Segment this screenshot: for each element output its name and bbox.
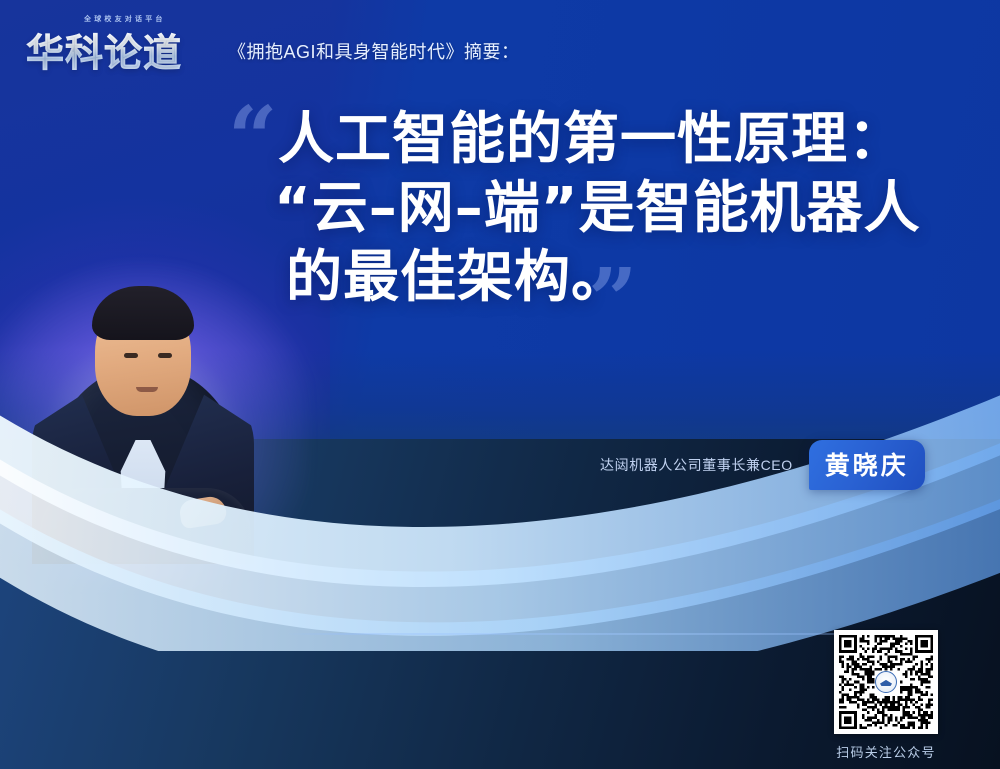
qr-code-image[interactable]: [834, 630, 938, 734]
brand-logo: 全球校友对话平台 华科论道: [26, 8, 222, 70]
portrait-mouth: [136, 387, 158, 392]
speaker-name-badge: 黄晓庆: [809, 440, 925, 490]
quote-line-2: “云–网–端”是智能机器人: [274, 175, 968, 244]
speaker-credit: 达闼机器人公司董事长兼CEO 黄晓庆: [600, 440, 925, 490]
quote-close-mark: ”: [588, 258, 637, 344]
qr-center-emblem: [875, 671, 897, 693]
portrait-eye-left: [124, 353, 138, 358]
qr-block[interactable]: 扫码关注公众号: [834, 630, 938, 761]
logo-wordmark: 华科论道: [26, 22, 182, 77]
qr-caption: 扫码关注公众号: [834, 742, 938, 761]
portrait-eye-right: [158, 353, 172, 358]
speaker-title: 达闼机器人公司董事长兼CEO: [600, 455, 793, 475]
quote-open-mark: “: [228, 96, 277, 182]
speaker-portrait: [18, 234, 268, 564]
quote-line-1: 人工智能的第一性原理：: [278, 106, 968, 175]
header-bar: 全球校友对话平台 华科论道 《拥抱AGI和具身智能时代》摘要：: [0, 0, 1000, 92]
header-subtitle: 《拥抱AGI和具身智能时代》摘要：: [228, 38, 520, 64]
poster-root: 全球校友对话平台 华科论道 《拥抱AGI和具身智能时代》摘要： “ 人工智能的第…: [0, 0, 1000, 769]
